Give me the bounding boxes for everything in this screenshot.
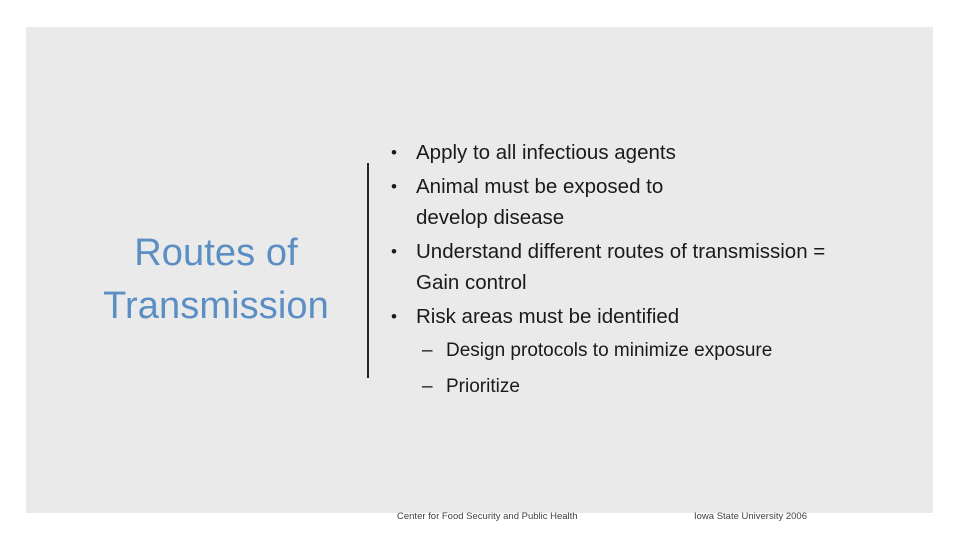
bullet-marker-icon: • <box>391 301 416 333</box>
sub-list-item-text: Design protocols to minimize exposure <box>446 334 911 368</box>
title-line-1: Routes of <box>66 227 366 280</box>
list-item: • Animal must be exposed to develop dise… <box>391 171 911 234</box>
sub-list-item: – Prioritize <box>391 370 911 404</box>
bullet-marker-icon: • <box>391 236 416 268</box>
bullet-marker-icon: • <box>391 171 416 203</box>
list-item: • Understand different routes of transmi… <box>391 236 911 299</box>
list-item-text: Understand different routes of transmiss… <box>416 236 911 299</box>
slide-title: Routes of Transmission <box>66 227 366 333</box>
vertical-divider <box>367 163 369 378</box>
list-item-text: Risk areas must be identified <box>416 301 911 333</box>
footer-attribution: Iowa State University 2006 <box>694 511 807 523</box>
sub-list-item: – Design protocols to minimize exposure <box>391 334 911 368</box>
list-item: • Apply to all infectious agents <box>391 137 911 169</box>
slide-canvas: Routes of Transmission • Apply to all in… <box>26 27 933 513</box>
slide-footer: Center for Food Security and Public Heal… <box>397 511 817 523</box>
list-item-text: Animal must be exposed to develop diseas… <box>416 171 911 234</box>
list-item-text: Apply to all infectious agents <box>416 137 911 169</box>
title-line-2: Transmission <box>66 280 366 333</box>
dash-marker-icon: – <box>422 370 446 404</box>
bullet-marker-icon: • <box>391 137 416 169</box>
sub-list-item-text: Prioritize <box>446 370 911 404</box>
bullet-list: • Apply to all infectious agents • Anima… <box>391 137 911 406</box>
list-item: • Risk areas must be identified <box>391 301 911 333</box>
footer-organization: Center for Food Security and Public Heal… <box>397 511 578 523</box>
dash-marker-icon: – <box>422 334 446 368</box>
